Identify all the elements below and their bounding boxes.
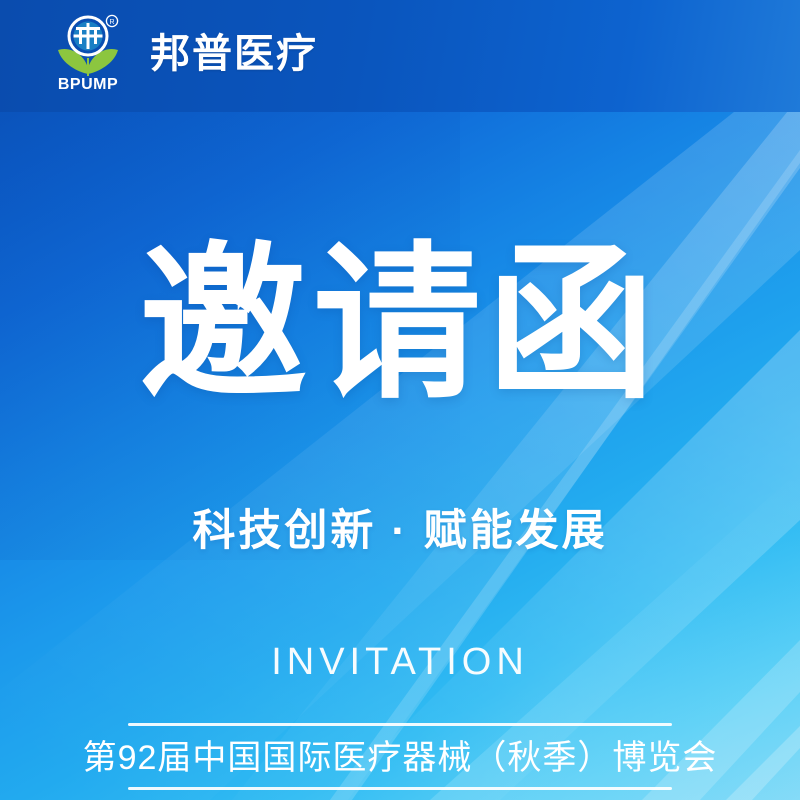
divider-top bbox=[128, 723, 672, 726]
trademark-icon: R bbox=[105, 14, 119, 28]
divider-bottom bbox=[128, 787, 672, 790]
bpump-logo-icon: BPUMP R bbox=[48, 14, 128, 94]
svg-text:R: R bbox=[109, 19, 114, 26]
invitation-poster: BPUMP R 邦普医疗 邀请函 科技创新 · 赋能发展 INVITATION … bbox=[0, 0, 800, 800]
brand-name: 邦普医疗 bbox=[150, 34, 318, 74]
poster-subtitle: 科技创新 · 赋能发展 bbox=[0, 510, 800, 553]
poster-content: 邀请函 科技创新 · 赋能发展 INVITATION 第92届中国国际医疗器械（… bbox=[0, 112, 800, 800]
logo-wordmark: BPUMP bbox=[48, 77, 128, 93]
invitation-english-label: INVITATION bbox=[0, 643, 800, 681]
page-title: 邀请函 bbox=[0, 240, 800, 408]
poster-header: BPUMP R 邦普医疗 bbox=[48, 12, 318, 96]
event-name: 第92届中国国际医疗器械（秋季）博览会 bbox=[0, 738, 800, 778]
